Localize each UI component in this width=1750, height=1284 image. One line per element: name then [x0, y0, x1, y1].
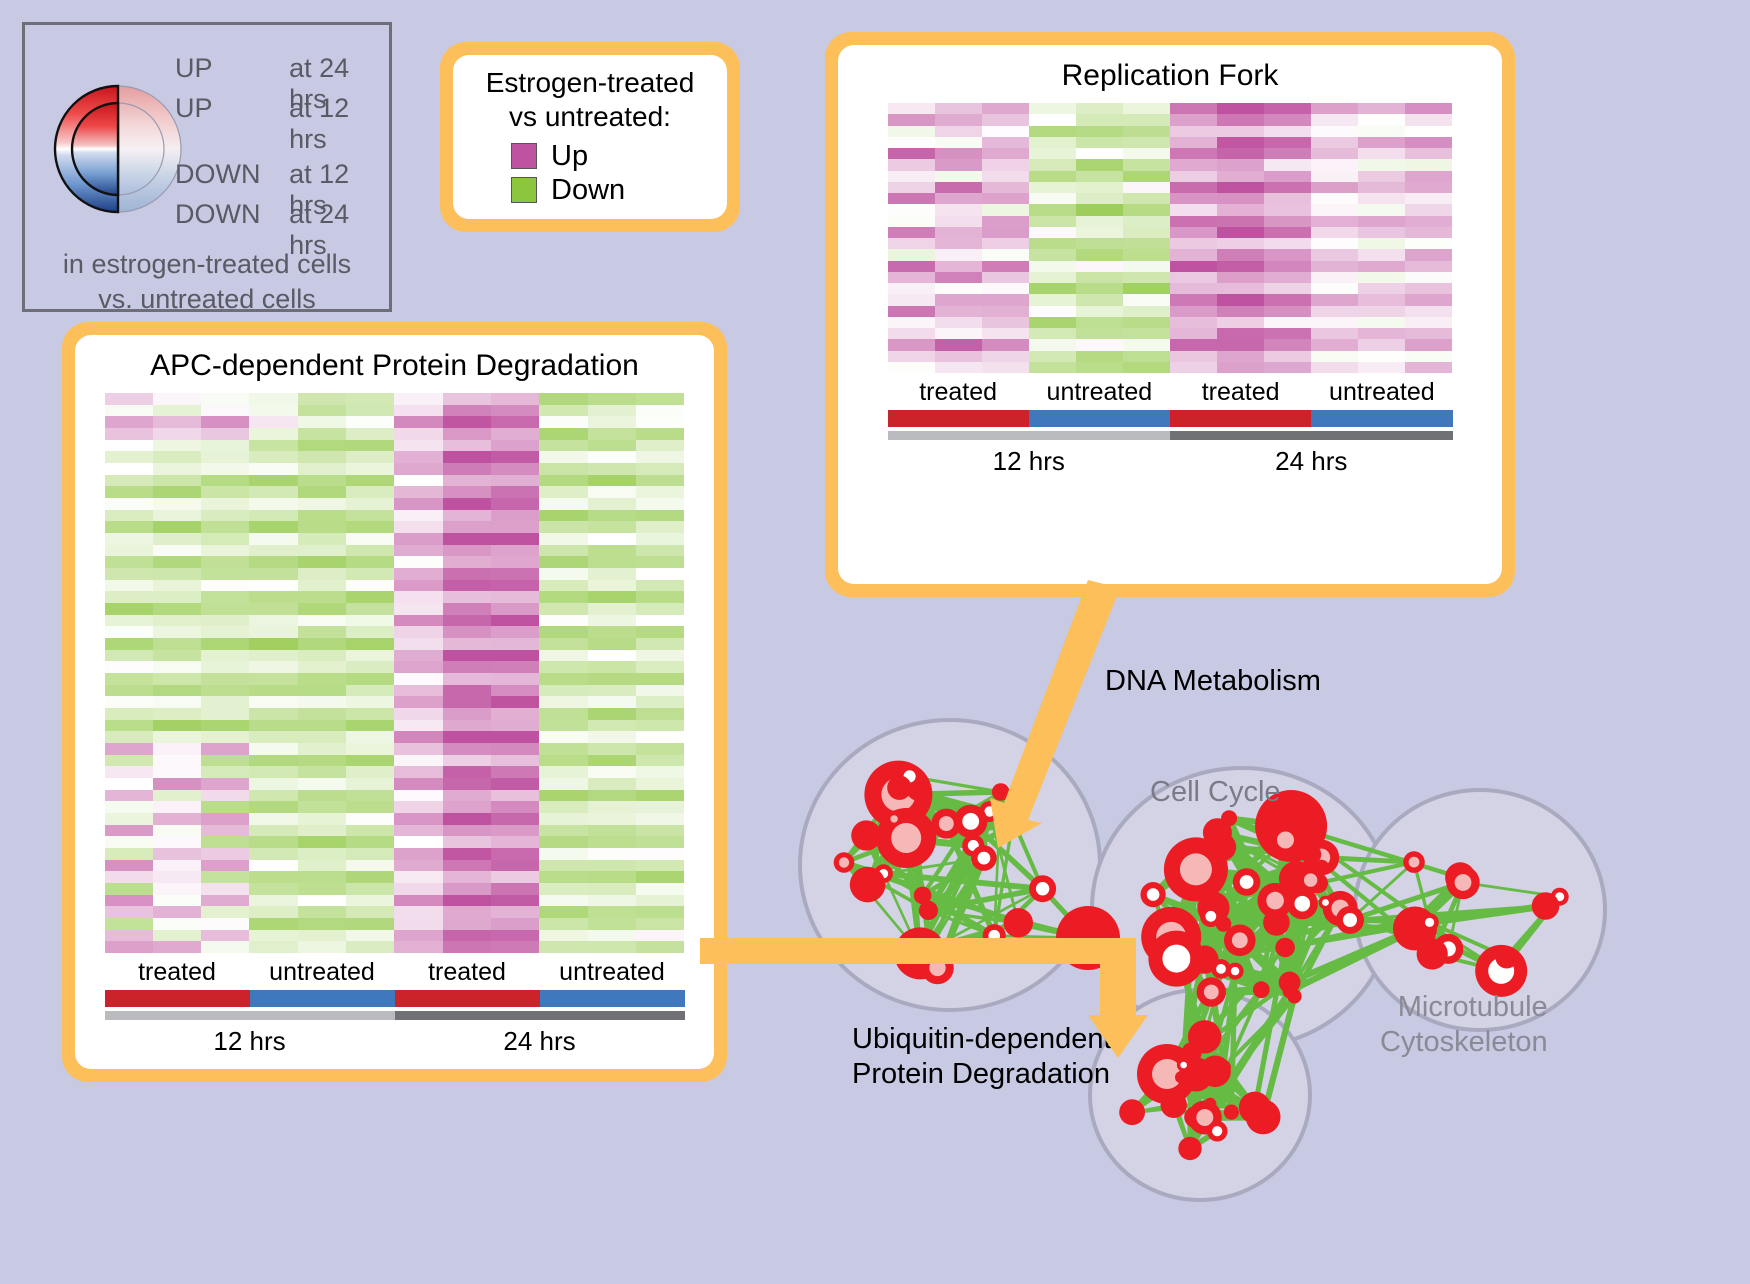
heatmap-cell: [539, 766, 587, 778]
network-node-core: [1304, 873, 1317, 886]
heatmap-cell: [1405, 171, 1452, 182]
heatmap-cell: [1076, 204, 1123, 215]
bar-treated-24: [395, 990, 540, 1007]
heatmap-axis: treated untreated treated untreated 12 h: [105, 953, 685, 1057]
heatmap-cell: [1123, 261, 1170, 272]
heatmap-cell: [249, 556, 297, 568]
heatmap-cell: [1170, 283, 1217, 294]
axis-time-labels: 12 hrs 24 hrs: [105, 1020, 685, 1057]
heatmap-cell: [539, 708, 587, 720]
heatmap-cell: [935, 272, 982, 283]
heatmap-cell: [982, 216, 1029, 227]
heatmap-cell: [935, 216, 982, 227]
heatmap-cell: [298, 941, 346, 953]
heatmap-cell: [1405, 227, 1452, 238]
heatmap-cell: [443, 743, 491, 755]
heatmap-cell: [394, 498, 442, 510]
heatmap-cell: [298, 451, 346, 463]
heatmap-cell: [201, 615, 249, 627]
heatmap-cell: [394, 720, 442, 732]
axis-group-bars: [105, 990, 685, 1007]
heatmap-cell: [539, 883, 587, 895]
axis-group-labels: treated untreated treated untreated: [888, 373, 1453, 410]
heatmap-cell: [105, 638, 153, 650]
heatmap-cell: [539, 591, 587, 603]
heatmap-cell: [249, 801, 297, 813]
heatmap-cell: [443, 941, 491, 953]
heatmap-cell: [249, 580, 297, 592]
heatmap-cell: [105, 755, 153, 767]
heatmap-cell: [539, 405, 587, 417]
heatmap-cell: [249, 941, 297, 953]
heatmap-cell: [298, 918, 346, 930]
heatmap-cell: [298, 790, 346, 802]
heatmap-cell: [443, 685, 491, 697]
heatmap-cell: [394, 883, 442, 895]
heatmap-cell: [346, 475, 394, 487]
wheel-key: UP: [175, 53, 289, 84]
heatmap-cell: [588, 661, 636, 673]
heatmap-cell: [982, 339, 1029, 350]
heatmap-cell: [636, 463, 684, 475]
heatmap-cell: [636, 393, 684, 405]
heatmap-cell: [1123, 272, 1170, 283]
heatmap-cell: [394, 463, 442, 475]
heatmap-cell: [201, 405, 249, 417]
heatmap-cell: [105, 871, 153, 883]
heatmap-cell: [491, 416, 539, 428]
heatmap-cell: [298, 486, 346, 498]
heatmap-cell: [1123, 227, 1170, 238]
heatmap-cell: [1217, 351, 1264, 362]
heatmap-cell: [443, 673, 491, 685]
network-node[interactable]: [1221, 810, 1237, 826]
heatmap-cell: [105, 533, 153, 545]
footer-line-2: vs. untreated cells: [25, 282, 389, 317]
heatmap-cell: [588, 685, 636, 697]
heatmap-cell: [1076, 339, 1123, 350]
heatmap-cell: [201, 930, 249, 942]
heatmap-cell: [636, 848, 684, 860]
bar-24hrs: [395, 1011, 685, 1020]
heatmap-cell: [298, 766, 346, 778]
heatmap-cell: [888, 283, 935, 294]
network-node[interactable]: [1275, 938, 1295, 958]
heatmap-cell: [1170, 294, 1217, 305]
heatmap-cell: [588, 941, 636, 953]
heatmap-cell: [539, 556, 587, 568]
heatmap-cell: [1217, 159, 1264, 170]
heatmap-cell: [1029, 182, 1076, 193]
heatmap-cell: [491, 836, 539, 848]
heatmap-cell: [1217, 103, 1264, 114]
heatmap-cell: [153, 661, 201, 673]
heatmap-cell: [1029, 328, 1076, 339]
heatmap-cell: [539, 498, 587, 510]
heatmap-cell: [1029, 216, 1076, 227]
heatmap-cell: [249, 440, 297, 452]
heatmap-cell: [1029, 261, 1076, 272]
bar-untreated-24: [1311, 410, 1452, 427]
heatmap-cell: [1029, 306, 1076, 317]
heatmap-cell: [636, 451, 684, 463]
heatmap-cell: [491, 580, 539, 592]
heatmap-cell: [636, 696, 684, 708]
bar-treated-24: [1170, 410, 1311, 427]
heatmap-cell: [1264, 148, 1311, 159]
heatmap-cell: [588, 603, 636, 615]
heatmap-cell: [982, 261, 1029, 272]
heatmap-cell: [1123, 306, 1170, 317]
heatmap-cell: [1170, 227, 1217, 238]
heatmap-cell: [1264, 283, 1311, 294]
heatmap-cell: [539, 603, 587, 615]
axis-label-treated-24: treated: [395, 953, 540, 990]
heatmap-cell: [394, 603, 442, 615]
heatmap-cell: [491, 941, 539, 953]
heatmap-cell: [588, 486, 636, 498]
network-node[interactable]: [1417, 938, 1448, 969]
heatmap-cell: [105, 626, 153, 638]
heatmap-cell: [636, 650, 684, 662]
heatmap-cell: [201, 673, 249, 685]
heatmap-cell: [105, 883, 153, 895]
heatmap-cell: [394, 568, 442, 580]
heatmap-cell: [1076, 249, 1123, 260]
heatmap-cell: [636, 545, 684, 557]
heatmap-cell: [491, 440, 539, 452]
network-node[interactable]: [1178, 1137, 1201, 1160]
heatmap-cell: [1217, 227, 1264, 238]
heatmap-cell: [539, 638, 587, 650]
heatmap-cell: [1405, 137, 1452, 148]
heatmap-cell: [105, 708, 153, 720]
network-node-core: [1343, 913, 1357, 927]
heatmap-cell: [1311, 103, 1358, 114]
heatmap-cell: [1358, 351, 1405, 362]
heatmap-cell: [888, 249, 935, 260]
heatmap-cell: [443, 696, 491, 708]
heatmap-cell: [1217, 283, 1264, 294]
heatmap-cell: [346, 416, 394, 428]
heatmap-cell: [105, 661, 153, 673]
cluster-label-dna-metabolism: DNA Metabolism: [1105, 665, 1321, 698]
heatmap-cell: [491, 498, 539, 510]
heatmap-cell: [1123, 339, 1170, 350]
bar-untreated-12: [1029, 410, 1170, 427]
heatmap-cell: [201, 440, 249, 452]
heatmap-cell: [298, 661, 346, 673]
heatmap-cell: [1076, 159, 1123, 170]
heatmap-cell: [1029, 193, 1076, 204]
heatmap-cell: [394, 556, 442, 568]
heatmap-cell: [153, 860, 201, 872]
heatmap-cell: [298, 498, 346, 510]
heatmap-cell: [636, 871, 684, 883]
network-node-core: [1322, 899, 1329, 906]
heatmap-cell: [1264, 351, 1311, 362]
heatmap-cell: [1405, 306, 1452, 317]
network-node-core: [891, 823, 921, 853]
heatmap-cell: [105, 778, 153, 790]
heatmap-cell: [346, 871, 394, 883]
heatmap-cell: [1076, 272, 1123, 283]
heatmap-cell: [153, 405, 201, 417]
heatmap-cell: [1029, 126, 1076, 137]
heatmap-cell: [1405, 339, 1452, 350]
heatmap-cell: [105, 440, 153, 452]
heatmap-cell: [1358, 148, 1405, 159]
heatmap-cell: [636, 883, 684, 895]
axis-label-untreated-12: untreated: [1029, 373, 1170, 410]
network-node[interactable]: [1283, 985, 1297, 999]
bar-treated-12: [888, 410, 1029, 427]
heatmap-cell: [539, 860, 587, 872]
heatmap-cell: [443, 463, 491, 475]
heatmap-cell: [1170, 114, 1217, 125]
heatmap-cell: [249, 451, 297, 463]
heatmap-cell: [1311, 114, 1358, 125]
heatmap-cell: [1217, 339, 1264, 350]
heatmap-cell: [249, 568, 297, 580]
heatmap-cell: [346, 521, 394, 533]
heatmap-cell: [539, 440, 587, 452]
network-node[interactable]: [850, 867, 886, 903]
heatmap-cell: [153, 848, 201, 860]
heatmap-cell: [1358, 339, 1405, 350]
heatmap-cell: [298, 848, 346, 860]
heatmap-cell: [636, 790, 684, 802]
heatmap-cell: [539, 661, 587, 673]
heatmap-cell: [1123, 126, 1170, 137]
heatmap-cell: [394, 475, 442, 487]
arrow-replication-fork: [970, 580, 1130, 850]
heatmap-cell: [1311, 272, 1358, 283]
axis-label-treated-12: treated: [105, 953, 250, 990]
heatmap-cell: [491, 883, 539, 895]
heatmap-cell: [491, 626, 539, 638]
network-node-core: [1266, 892, 1284, 910]
heatmap-cell: [105, 720, 153, 732]
heatmap-cell: [249, 766, 297, 778]
heatmap-cell: [394, 615, 442, 627]
heatmap-cell: [588, 475, 636, 487]
heatmap-cell: [1029, 362, 1076, 373]
heatmap-cell: [1358, 362, 1405, 373]
heatmap-cell: [249, 871, 297, 883]
heatmap-cell: [1076, 193, 1123, 204]
heatmap-cell: [491, 743, 539, 755]
heatmap-cell: [443, 731, 491, 743]
heatmap-cell: [935, 238, 982, 249]
heatmap-cell: [539, 906, 587, 918]
heatmap-cell: [636, 755, 684, 767]
heatmap-cell: [1029, 171, 1076, 182]
heatmap-cell: [153, 475, 201, 487]
network-node-core: [1240, 875, 1254, 889]
time-label-12hrs: 12 hrs: [888, 440, 1171, 477]
heatmap-cell: [1358, 272, 1405, 283]
heatmap-cell: [1076, 294, 1123, 305]
heatmap-cell: [298, 801, 346, 813]
heatmap-cell: [1076, 238, 1123, 249]
heatmap-cell: [491, 895, 539, 907]
heatmap-cell: [249, 416, 297, 428]
heatmap-cell: [539, 416, 587, 428]
heatmap-cell: [636, 813, 684, 825]
heatmap-cell: [636, 778, 684, 790]
heatmap-cell: [1405, 272, 1452, 283]
heatmap-cell: [346, 673, 394, 685]
heatmap-cell: [201, 766, 249, 778]
heatmap-cell: [1029, 283, 1076, 294]
heatmap-cell: [346, 428, 394, 440]
heatmap-cell: [888, 193, 935, 204]
key-item-down: Down: [511, 174, 625, 207]
heatmap-cell: [491, 451, 539, 463]
heatmap-cell: [249, 778, 297, 790]
heatmap-cell: [249, 813, 297, 825]
heatmap-cell: [1029, 204, 1076, 215]
heatmap-cell: [443, 521, 491, 533]
heatmap-cell: [636, 591, 684, 603]
heatmap-cell: [539, 848, 587, 860]
heatmap-cell: [153, 521, 201, 533]
heatmap-cell: [153, 743, 201, 755]
heatmap-cell: [298, 591, 346, 603]
heatmap-cell: [491, 475, 539, 487]
heatmap-cell: [1264, 216, 1311, 227]
heatmap-cell: [1217, 114, 1264, 125]
heatmap-cell: [888, 339, 935, 350]
heatmap-cell: [249, 685, 297, 697]
heatmap-cell: [249, 906, 297, 918]
heatmap-cell: [105, 860, 153, 872]
heatmap-cell: [201, 416, 249, 428]
heatmap-cell: [1264, 339, 1311, 350]
heatmap-cell: [935, 103, 982, 114]
heatmap-cell: [1217, 193, 1264, 204]
heatmap-cell: [1311, 204, 1358, 215]
heatmap-cell: [153, 755, 201, 767]
heatmap-cell: [201, 568, 249, 580]
heatmap-cell: [249, 486, 297, 498]
heatmap-cell: [1217, 204, 1264, 215]
heatmap-cell: [394, 638, 442, 650]
heatmap-cell: [105, 463, 153, 475]
heatmap-cell: [636, 638, 684, 650]
heatmap-cell: [1170, 216, 1217, 227]
heatmap-cell: [346, 755, 394, 767]
heatmap-cell: [491, 650, 539, 662]
heatmap-cell: [1170, 193, 1217, 204]
heatmap-cell: [491, 591, 539, 603]
heatmap-cell: [1029, 114, 1076, 125]
cluster-label-microtubule-cytoskeleton: Microtubule Cytoskeleton: [1380, 990, 1548, 1061]
heatmap-cell: [1311, 283, 1358, 294]
heatmap-cell: [1358, 328, 1405, 339]
heatmap-cell: [1358, 294, 1405, 305]
heatmap-cell: [153, 731, 201, 743]
network-node[interactable]: [1532, 892, 1560, 920]
wheel-key: DOWN: [175, 199, 289, 230]
heatmap-cell: [982, 227, 1029, 238]
heatmap-cell: [394, 533, 442, 545]
heatmap-cell: [1405, 182, 1452, 193]
heatmap-cell: [201, 510, 249, 522]
heatmap-cell: [443, 451, 491, 463]
network-node[interactable]: [887, 776, 911, 800]
heatmap-cell: [636, 521, 684, 533]
network-node[interactable]: [1495, 946, 1518, 969]
heatmap-cell: [1358, 317, 1405, 328]
up-swatch: [511, 143, 537, 169]
heatmap-cell: [539, 825, 587, 837]
heatmap-cell: [298, 405, 346, 417]
heatmap-cell: [1405, 328, 1452, 339]
heatmap-cell: [394, 521, 442, 533]
up-label: Up: [551, 140, 588, 173]
heatmap-cell: [1311, 126, 1358, 137]
heatmap-cell: [1264, 227, 1311, 238]
heatmap-cell: [443, 498, 491, 510]
network-node[interactable]: [851, 820, 881, 850]
heatmap-cell: [588, 498, 636, 510]
heatmap-cell: [1076, 148, 1123, 159]
time-label-24hrs: 24 hrs: [1170, 440, 1453, 477]
heatmap-cell: [394, 860, 442, 872]
replication-fork-panel: Replication Fork treated untreated treat…: [825, 32, 1515, 597]
bar-24hrs: [1170, 431, 1453, 440]
heatmap-cell: [1358, 261, 1405, 272]
heatmap-cell: [201, 778, 249, 790]
wheel-row-up-12: UP at 12 hrs: [175, 93, 389, 133]
heatmap-cell: [153, 533, 201, 545]
network-node-core: [1180, 853, 1212, 885]
network-node[interactable]: [1208, 833, 1236, 861]
heatmap-cell: [201, 708, 249, 720]
heatmap-cell: [636, 766, 684, 778]
wheel-row-up-24: UP at 24 hrs: [175, 53, 389, 93]
network-node-core: [939, 816, 954, 831]
heatmap-cell: [153, 451, 201, 463]
heatmap-cell: [153, 545, 201, 557]
heatmap-cell: [636, 533, 684, 545]
heatmap-cell: [105, 813, 153, 825]
heatmap-cell: [1358, 182, 1405, 193]
heatmap-cell: [588, 463, 636, 475]
heatmap-cell: [298, 860, 346, 872]
heatmap-cell: [105, 918, 153, 930]
heatmap-cell: [249, 825, 297, 837]
heatmap-cell: [153, 825, 201, 837]
heatmap-cell: [1358, 193, 1405, 204]
heatmap-cell: [636, 580, 684, 592]
heatmap-cell: [201, 790, 249, 802]
arrow-apc-degradation: [700, 920, 1260, 1120]
heatmap-cell: [346, 778, 394, 790]
heatmap-cell: [394, 626, 442, 638]
heatmap-cell: [153, 720, 201, 732]
heatmap-cell: [153, 941, 201, 953]
heatmap-cell: [1264, 103, 1311, 114]
cluster-label-cell-cycle: Cell Cycle: [1150, 776, 1281, 809]
key-title-line-1: Estrogen-treated: [486, 66, 695, 99]
heatmap-cell: [201, 860, 249, 872]
heatmap-cell: [888, 317, 935, 328]
heatmap-cell: [539, 743, 587, 755]
heatmap-cell: [1123, 103, 1170, 114]
